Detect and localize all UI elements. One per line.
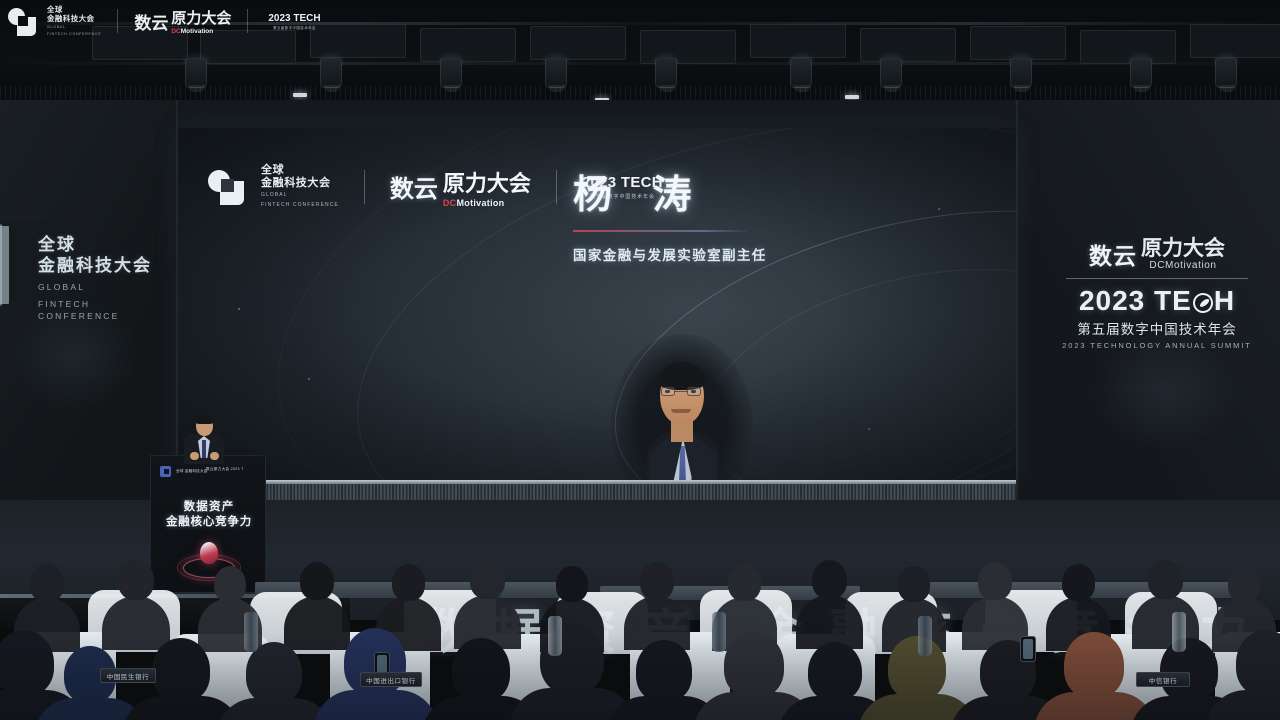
audience-head	[728, 564, 761, 601]
screen-event-logo: 数云 原力大会 DCMotivation	[390, 166, 531, 208]
accent-light	[845, 95, 859, 99]
speaker-name-rule	[573, 230, 751, 232]
podium-logo-icon	[160, 466, 171, 477]
watermark-dc-white: Motivation	[181, 28, 214, 35]
stage-light	[1215, 58, 1237, 88]
left-wall-en2: FINTECH CONFERENCE	[38, 298, 168, 322]
speaker-name: 杨 涛	[573, 164, 813, 220]
audience-head	[1228, 566, 1260, 602]
screen-event-dc: DCMotivation	[443, 198, 531, 208]
speaker-title: 国家金融与发展实验室副主任	[573, 244, 813, 264]
right-wall-year: 2023 TEH	[1062, 285, 1252, 317]
left-wall-en1: GLOBAL	[38, 281, 168, 293]
watermark-brand-en1: GLOBAL	[47, 25, 101, 30]
watermark-brand-cn: 全球 金融科技大会	[47, 5, 101, 23]
broadcast-watermark: 全球 金融科技大会 GLOBAL FINTECH CONFERENCE 数云 原…	[8, 5, 321, 37]
audience-head	[1148, 560, 1183, 599]
audience-head	[1062, 564, 1095, 601]
fintech-logo-icon	[208, 167, 248, 207]
right-wall-yl: 原力大会	[1141, 237, 1225, 260]
watermark-logo-icon	[8, 6, 38, 36]
right-wall-divider	[1066, 278, 1248, 279]
audience-head	[812, 560, 847, 599]
audience-head	[640, 562, 674, 600]
podium-headline-1: 数据资产	[151, 498, 266, 514]
left-wall-line1: 全球	[38, 234, 168, 255]
podium-logo-text-2: 数云原力大会 2023 T	[206, 467, 244, 472]
speaker-portrait	[633, 350, 731, 480]
stage-light	[1010, 58, 1032, 88]
watermark-divider-1	[117, 9, 118, 33]
watermark-event-yl: 原力大会	[171, 7, 231, 28]
stage-light	[440, 58, 462, 88]
lockup-divider-1	[364, 170, 365, 204]
stage-light	[880, 58, 902, 88]
right-wall-en: DCMotivation	[1141, 260, 1225, 271]
stage-light	[320, 58, 342, 88]
speaker-name-block: 杨 涛 国家金融与发展实验室副主任	[573, 164, 813, 264]
right-wall-sub-cn: 第五届数字中国技术年会	[1062, 318, 1252, 338]
right-wall-year-post: H	[1214, 285, 1235, 316]
watermark-divider-2	[247, 9, 248, 33]
left-wall-line2: 金融科技大会	[38, 255, 168, 276]
right-wall-sy: 数云	[1089, 237, 1137, 271]
watermark-year-block: 2023 TECH 第五届数字中国技术年会	[268, 13, 320, 30]
right-wall-branding: 数云 原力大会 DCMotivation 2023 TEH 第五届数字中国技术年…	[1062, 232, 1252, 350]
audience-head	[300, 562, 334, 600]
watermark-year-sub: 第五届数字中国技术年会	[268, 25, 320, 30]
stage-light	[545, 58, 567, 88]
lockup-divider-2	[556, 170, 557, 204]
ceiling-panel	[860, 28, 956, 62]
stage-light	[1130, 58, 1152, 88]
watermark-dc-red: DC	[171, 28, 180, 35]
watermark-event-dc: DCMotivation	[171, 28, 231, 35]
watermark-year: 2023 TECH	[268, 13, 320, 24]
audience-head	[898, 566, 930, 602]
watermark-brand-en2: FINTECH CONFERENCE	[47, 32, 101, 37]
screen-logo-en2: FINTECH CONFERENCE	[261, 202, 339, 209]
audience-head	[214, 566, 246, 602]
podium-logo-text: 全球 金融科技大会	[176, 469, 208, 474]
audience-head	[30, 564, 64, 602]
wall-seam-right	[1016, 100, 1018, 500]
live-speaker	[183, 416, 225, 462]
screen-event-dc-red: DC	[443, 198, 457, 208]
watermark-event-sy: 数云	[134, 9, 168, 34]
right-wall-sub-en: 2023 TECHNOLOGY ANNUAL SUMMIT	[1062, 341, 1252, 350]
screen-logo-cn2: 金融科技大会	[261, 177, 339, 190]
screen-logo-cn1: 全球	[261, 164, 339, 177]
stage-light	[185, 58, 207, 88]
stage-light	[790, 58, 812, 88]
screen-event-sy: 数云	[390, 169, 438, 204]
podium-logo: 全球 金融科技大会	[160, 466, 208, 477]
screen-logo-en1: GLOBAL	[261, 192, 339, 199]
stage-light	[655, 58, 677, 88]
right-wall-year-pre: 2023 TE	[1079, 285, 1192, 316]
audience-head	[556, 566, 588, 602]
accent-light	[293, 93, 307, 97]
led-screen: 全球 金融科技大会 GLOBAL FINTECH CONFERENCE 数云 原…	[178, 128, 1016, 480]
screen-event-yl: 原力大会	[443, 166, 531, 198]
audience-head	[118, 560, 154, 600]
stage-panel-trim	[178, 480, 1016, 484]
audience-head	[978, 562, 1012, 600]
audience-head	[470, 560, 505, 599]
at-swirl-icon	[1190, 290, 1216, 316]
left-wall-branding: 全球 金融科技大会 GLOBAL FINTECH CONFERENCE	[38, 234, 168, 322]
screen-event-dc-white: Motivation	[456, 198, 504, 208]
conference-scene: 全球 金融科技大会 GLOBAL FINTECH CONFERENCE 数云 原…	[0, 0, 1280, 720]
watermark-event-logo: 数云 原力大会 DCMotivation	[134, 7, 231, 35]
ceiling-panel	[420, 28, 516, 62]
foreground-shade	[0, 636, 1280, 720]
audience-head	[392, 564, 425, 601]
